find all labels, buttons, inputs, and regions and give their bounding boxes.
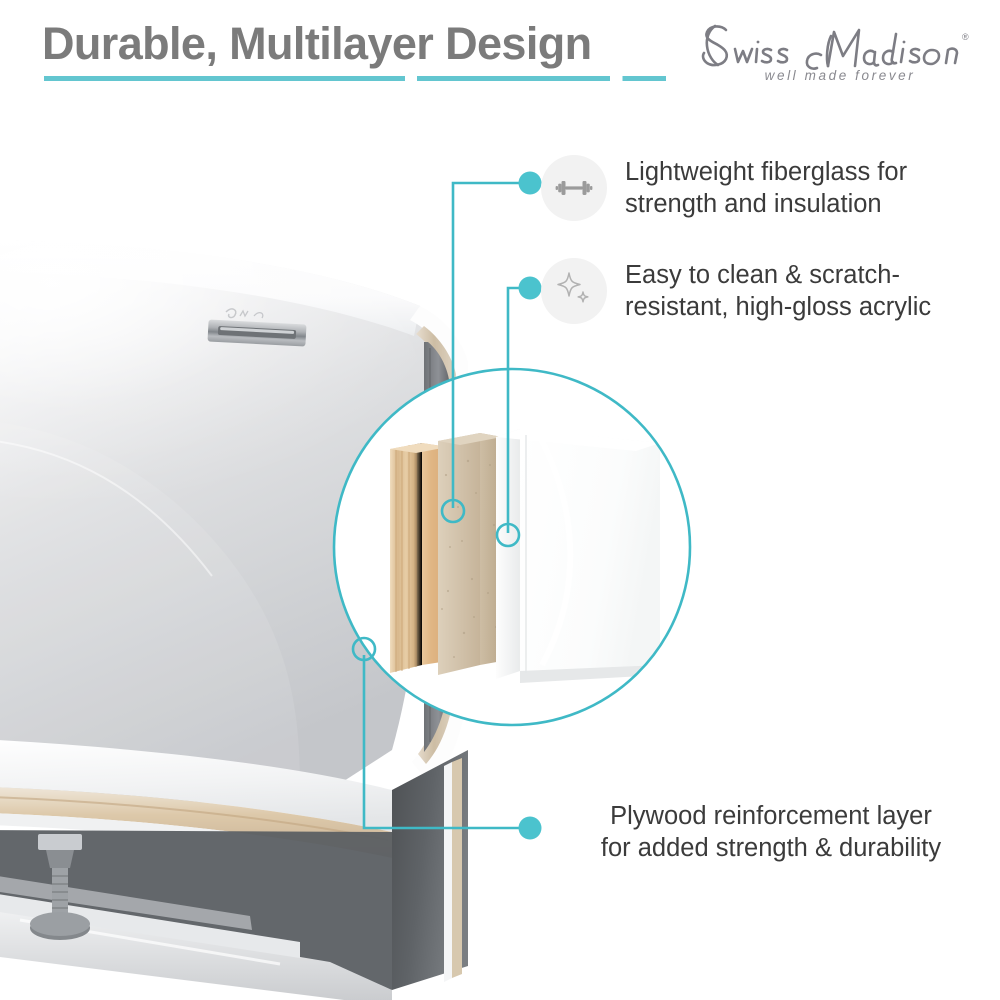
- callout-acrylic-line1: Easy to clean & scratch-: [625, 261, 900, 289]
- magnifier-svg: [330, 365, 695, 730]
- swiss-madison-logo: ® well made forever: [688, 16, 973, 86]
- acrylic-layer: [496, 429, 660, 683]
- layer-magnifier: [330, 365, 695, 730]
- callout-fiberglass-text: Lightweight fiberglass for strength and …: [625, 156, 907, 220]
- callout-fiberglass-line2: strength and insulation: [625, 188, 907, 220]
- callout-acrylic-line2: resistant, high-gloss acrylic: [625, 291, 931, 323]
- callout-fiberglass: Lightweight fiberglass for strength and …: [541, 155, 993, 221]
- callout-acrylic-text: Easy to clean & scratch- resistant, high…: [625, 259, 931, 323]
- callout-plywood-line1: Plywood reinforcement layer: [610, 802, 932, 830]
- header: Durable, Multilayer Design: [0, 0, 1000, 96]
- infographic-canvas: Durable, Multilayer Design: [0, 0, 1000, 1000]
- title-underline-rule: [44, 76, 666, 81]
- callout-plywood: Plywood reinforcement layer for added st…: [556, 800, 986, 864]
- callout-plywood-text: Plywood reinforcement layer for added st…: [556, 800, 986, 864]
- brand-wordmark-svg: ® well made forever: [688, 16, 973, 86]
- brand-tagline: well made forever: [765, 68, 916, 83]
- callout-acrylic: Easy to clean & scratch- resistant, high…: [541, 258, 993, 324]
- callout-fiberglass-line1: Lightweight fiberglass for: [625, 158, 907, 186]
- callout-plywood-line2: for added strength & durability: [556, 832, 986, 864]
- registered-mark: ®: [962, 32, 969, 42]
- page-title: Durable, Multilayer Design: [42, 18, 592, 70]
- sparkle-icon: [541, 258, 607, 324]
- dumbbell-icon: [541, 155, 607, 221]
